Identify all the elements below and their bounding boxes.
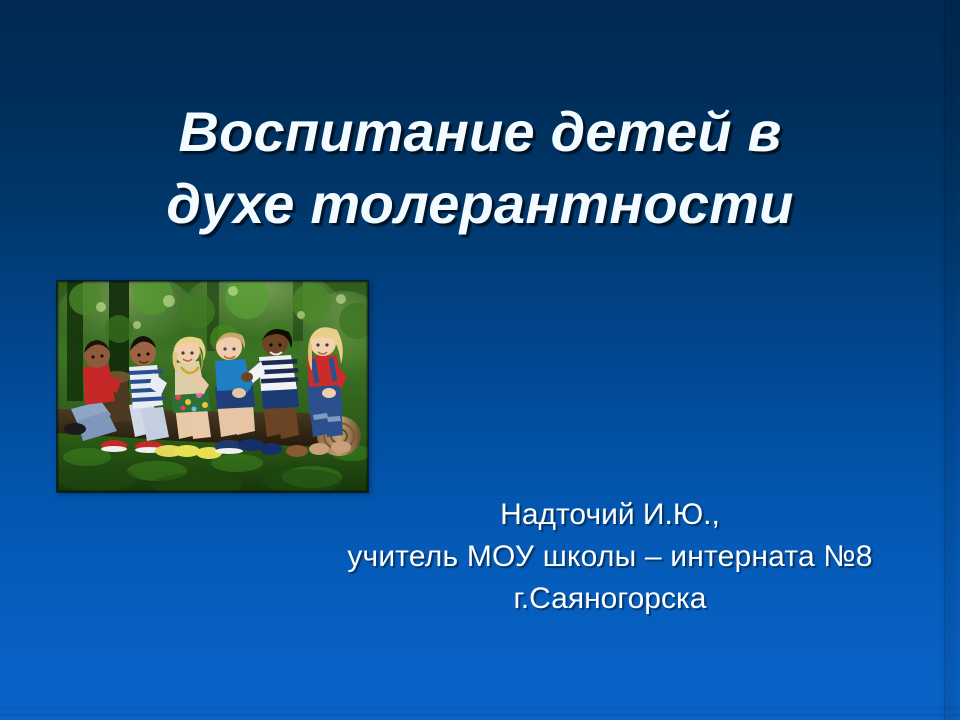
presentation-slide: Воспитание детей в духе толерантности [0, 0, 960, 720]
page-title: Воспитание детей в духе толерантности [0, 96, 960, 240]
bottom-banding-artifact [0, 698, 960, 720]
title-line-2: духе толерантности [0, 168, 960, 240]
author-city: г.Саяногорска [300, 578, 920, 620]
author-block: Надточий И.Ю., учитель МОУ школы – интер… [300, 494, 920, 620]
author-name: Надточий И.Ю., [300, 494, 920, 536]
children-photo [57, 281, 368, 492]
title-line-1: Воспитание детей в [0, 96, 960, 168]
children-photo-illustration [57, 281, 368, 492]
author-affiliation: учитель МОУ школы – интерната №8 [300, 536, 920, 578]
